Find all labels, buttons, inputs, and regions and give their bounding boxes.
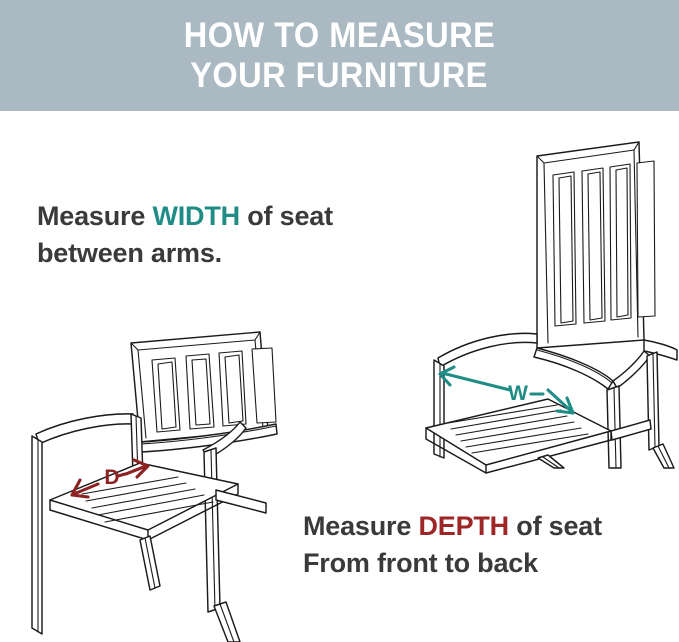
width-chair-backrest bbox=[537, 142, 655, 348]
depth-caption-line-2: From front to back bbox=[303, 545, 602, 582]
width-caption: Measure WIDTH of seat between arms. bbox=[37, 198, 333, 272]
width-measure-label: W bbox=[508, 382, 528, 405]
width-caption-line-2: between arms. bbox=[37, 235, 333, 272]
depth-chair-seat bbox=[50, 463, 266, 540]
depth-measure-label: D bbox=[104, 466, 119, 489]
depth-caption-prefix: Measure bbox=[303, 511, 418, 541]
depth-chair-illustration: D bbox=[18, 318, 318, 642]
depth-keyword: DEPTH bbox=[418, 511, 509, 541]
width-chair-illustration: W bbox=[398, 128, 679, 468]
header-banner: HOW TO MEASURE YOUR FURNITURE bbox=[0, 0, 679, 111]
header-title-line-2: YOUR FURNITURE bbox=[191, 56, 489, 96]
width-keyword: WIDTH bbox=[152, 201, 239, 231]
how-to-measure-furniture-poster: HOW TO MEASURE YOUR FURNITURE Measure WI… bbox=[0, 0, 679, 642]
depth-chair-backrest bbox=[131, 332, 276, 442]
header-title-line-1: HOW TO MEASURE bbox=[184, 16, 496, 56]
width-chair-legs bbox=[538, 444, 674, 468]
depth-caption-suffix: of seat bbox=[509, 511, 602, 541]
depth-chair-legs bbox=[140, 536, 240, 642]
depth-caption-line-1: Measure DEPTH of seat bbox=[303, 508, 602, 545]
depth-caption: Measure DEPTH of seat From front to back bbox=[303, 508, 602, 582]
width-caption-suffix: of seat bbox=[240, 201, 333, 231]
width-caption-line-1: Measure WIDTH of seat bbox=[37, 198, 333, 235]
width-caption-prefix: Measure bbox=[37, 201, 152, 231]
